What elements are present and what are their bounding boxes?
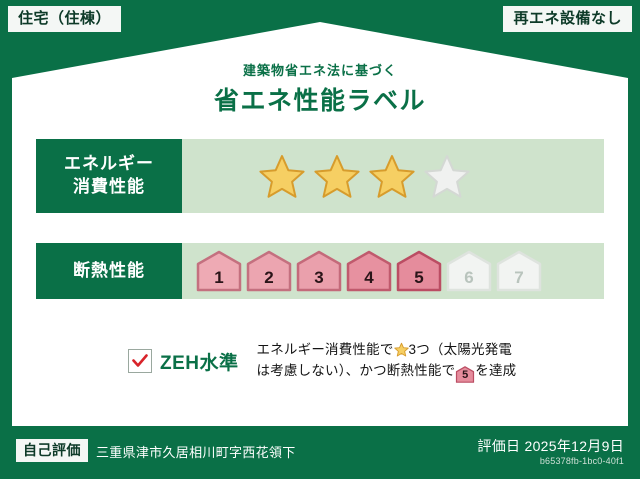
insulation-level-3: 3 <box>296 250 342 292</box>
insulation-level-scale: 1 2 3 4 <box>182 250 542 292</box>
zeh-description-line2-b: を達成 <box>475 363 516 378</box>
insulation-level-5-value: 5 <box>414 269 423 292</box>
property-address: 三重県津市久居相川町字西花領下 <box>96 442 296 461</box>
label-id: b65378fb-1bc0-40f1 <box>540 456 624 466</box>
star-filled-icon <box>313 153 361 199</box>
evaluation-type-badge: 自己評価 <box>16 439 88 462</box>
insulation-level-1-value: 1 <box>214 269 223 292</box>
label-footer: 自己評価 三重県津市久居相川町字西花領下 評価日 2025年12月9日 b653… <box>0 427 640 479</box>
star-filled-icon <box>258 153 306 199</box>
zeh-description-line1-a: エネルギー消費性能で <box>257 342 394 357</box>
insulation-performance-row: 断熱性能 1 2 <box>36 243 604 299</box>
insulation-level-6-value: 6 <box>464 269 473 292</box>
house-inline-icon: 5 <box>455 366 475 383</box>
star-empty-icon <box>423 153 471 199</box>
zeh-note: ZEH水準 エネルギー消費性能で3つ（太陽光発電 は考慮しない）、かつ断熱性能で… <box>36 330 604 392</box>
insulation-level-7: 7 <box>496 250 542 292</box>
zeh-description-line1-b: 3つ（太陽光発電 <box>409 342 513 357</box>
label-subtitle: 建築物省エネ法に基づく <box>0 60 640 79</box>
check-icon <box>132 354 148 368</box>
label-title: 省エネ性能ラベル <box>0 81 640 117</box>
insulation-level-1: 1 <box>196 250 242 292</box>
energy-performance-row-header: エネルギー 消費性能 <box>36 139 182 213</box>
zeh-description-house-value: 5 <box>455 366 475 385</box>
evaluation-date: 評価日 2025年12月9日 <box>477 436 624 456</box>
energy-performance-label-line1: エネルギー <box>64 153 154 176</box>
zeh-description-line1: エネルギー消費性能で3つ（太陽光発電 <box>257 339 517 361</box>
star-rating <box>182 153 471 199</box>
energy-performance-label-card: 住宅（住棟） 再エネ設備なし 建築物省エネ法に基づく 省エネ性能ラベル エネルギ… <box>0 0 640 479</box>
zeh-description-line2-a: は考慮しない）、かつ断熱性能で <box>257 363 456 378</box>
insulation-level-3-value: 3 <box>314 269 323 292</box>
insulation-performance-row-body: 1 2 3 4 <box>182 243 604 299</box>
insulation-level-5: 5 <box>396 250 442 292</box>
zeh-checkbox[interactable] <box>128 349 152 373</box>
star-filled-icon <box>368 153 416 199</box>
zeh-description: エネルギー消費性能で3つ（太陽光発電 は考慮しない）、かつ断熱性能で5を達成 <box>257 339 517 384</box>
insulation-level-2: 2 <box>246 250 292 292</box>
insulation-performance-row-header: 断熱性能 <box>36 243 182 299</box>
energy-performance-row: エネルギー 消費性能 <box>36 139 604 213</box>
building-type-tag: 住宅（住棟） <box>8 6 121 32</box>
zeh-description-line2: は考慮しない）、かつ断熱性能で5を達成 <box>257 360 517 383</box>
insulation-level-7-value: 7 <box>514 269 523 292</box>
insulation-level-4-value: 4 <box>364 269 373 292</box>
star-inline-icon <box>394 342 409 357</box>
insulation-level-4: 4 <box>346 250 392 292</box>
zeh-standard-label: ZEH水準 <box>160 348 239 375</box>
insulation-level-6: 6 <box>446 250 492 292</box>
insulation-level-2-value: 2 <box>264 269 273 292</box>
energy-performance-label-line2: 消費性能 <box>73 176 145 199</box>
renewable-equipment-tag: 再エネ設備なし <box>503 6 632 32</box>
energy-performance-row-body <box>182 139 604 213</box>
